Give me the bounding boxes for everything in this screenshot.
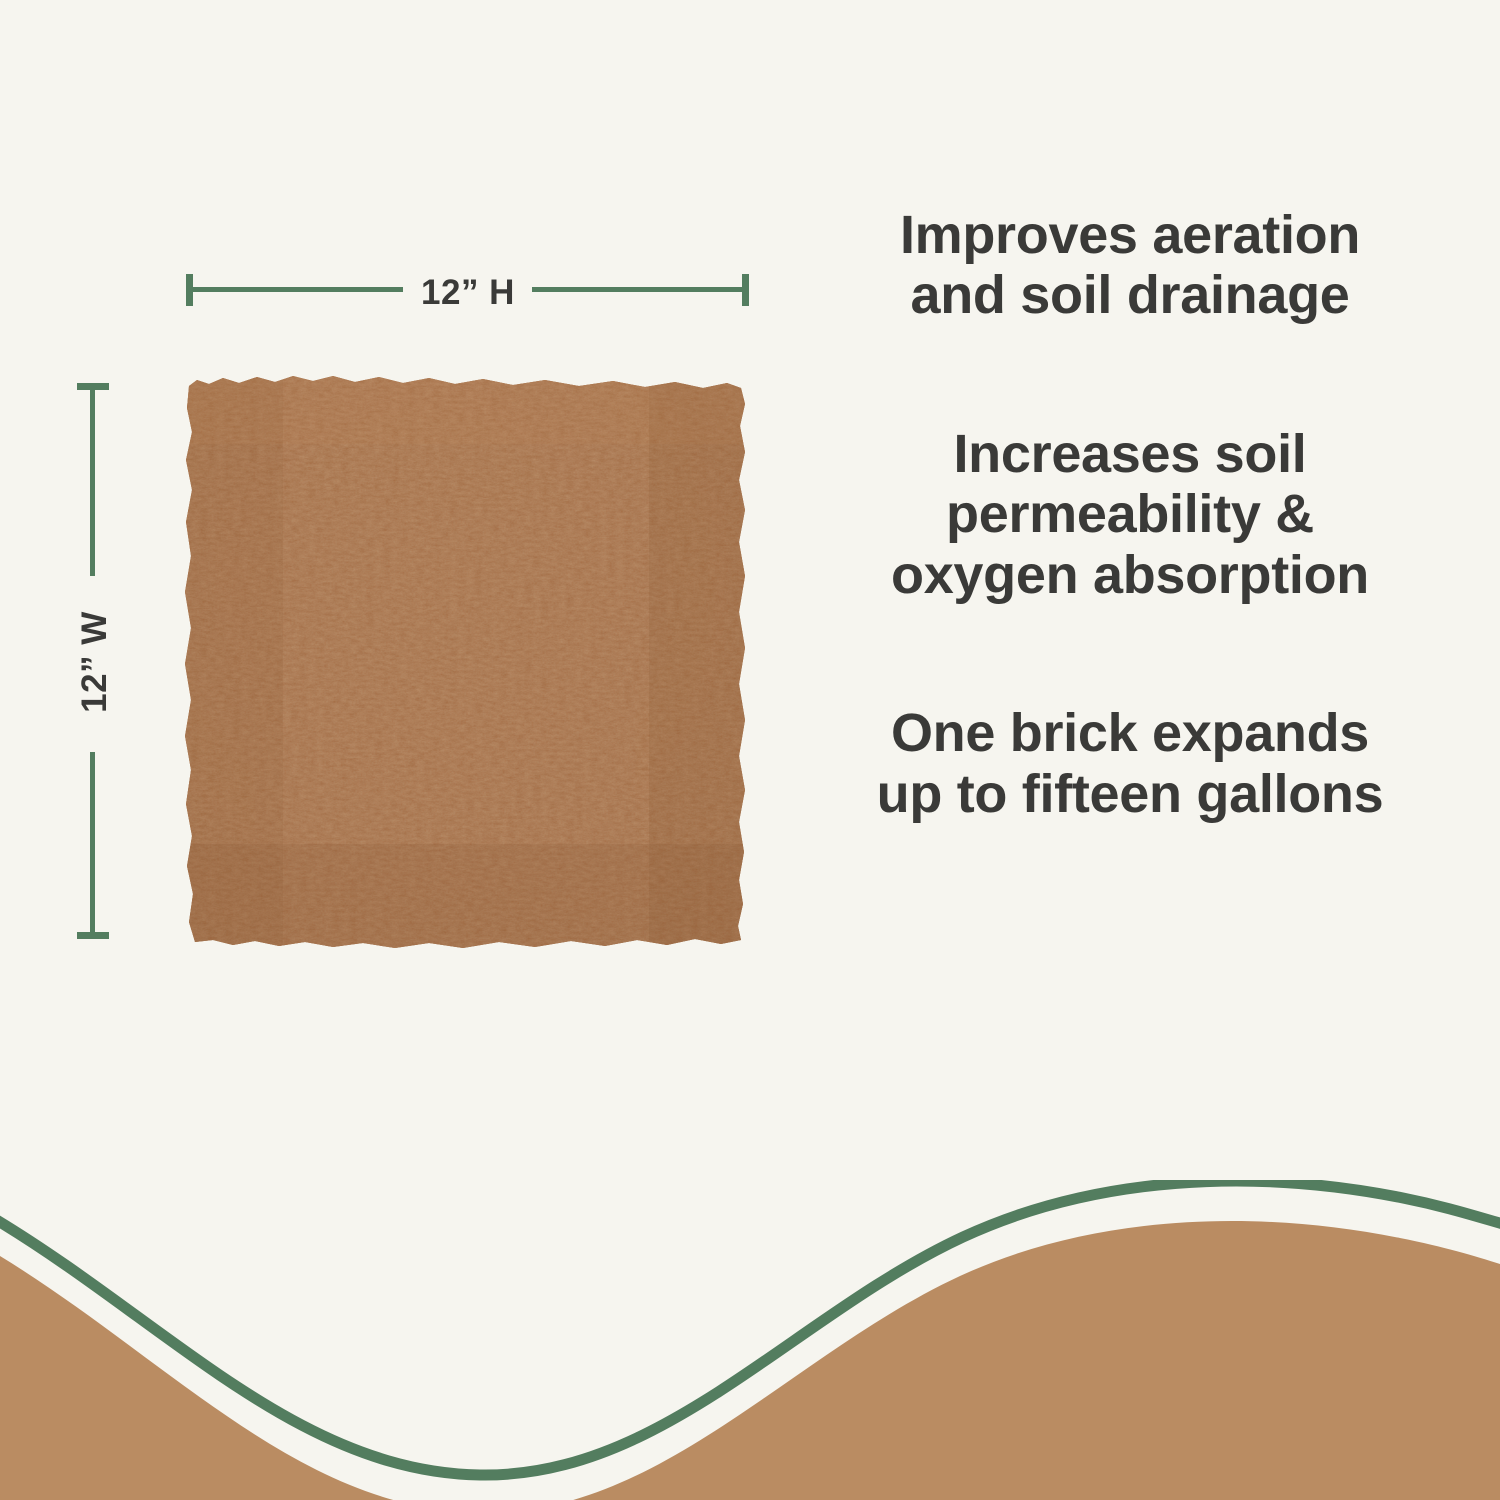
feature-line: oxygen absorption	[810, 545, 1450, 605]
feature-line: up to fifteen gallons	[810, 764, 1450, 824]
feature-item-permeability: Increases soil permeability & oxygen abs…	[810, 424, 1450, 605]
feature-list: Improves aeration and soil drainage Incr…	[810, 205, 1450, 824]
dimension-label-height: 12” H	[180, 262, 756, 324]
feature-line: One brick expands	[810, 703, 1450, 763]
dimension-label-width-text: 12” W	[75, 611, 115, 713]
product-image-coco-coir-brick	[183, 374, 749, 949]
dimension-label-height-text: 12” H	[421, 273, 515, 313]
bottom-wave-divider	[0, 1180, 1500, 1500]
feature-line: Improves aeration	[810, 205, 1450, 265]
brick-illustration	[183, 374, 749, 949]
wave-fill	[0, 1221, 1500, 1500]
bottom-wave-graphic	[0, 1180, 1500, 1500]
feature-line: Increases soil	[810, 424, 1450, 484]
feature-item-aeration: Improves aeration and soil drainage	[810, 205, 1450, 326]
feature-item-expansion: One brick expands up to fifteen gallons	[810, 703, 1450, 824]
feature-line: and soil drainage	[810, 265, 1450, 325]
dimension-label-width: 12” W	[60, 378, 130, 946]
infographic-canvas: 12” H 12” W Improves aeration and soil d…	[0, 0, 1500, 1500]
feature-line: permeability &	[810, 484, 1450, 544]
